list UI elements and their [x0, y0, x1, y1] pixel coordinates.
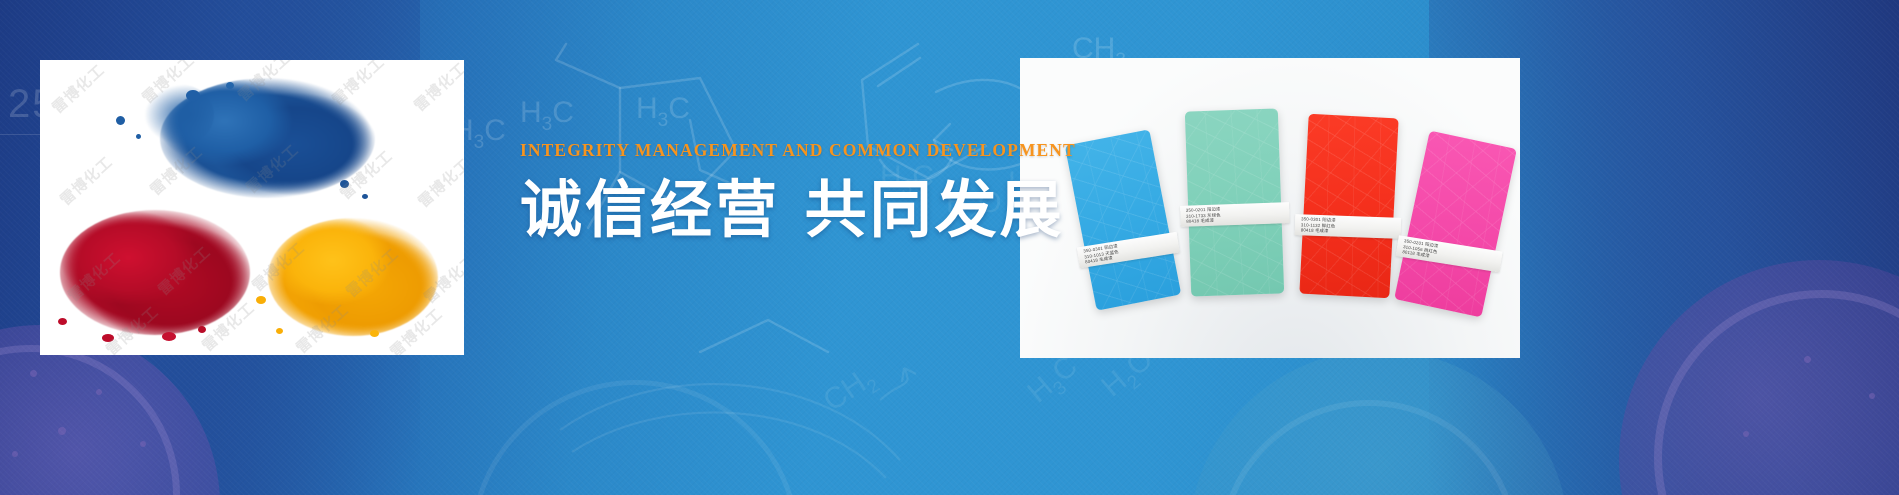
blue-sample-panel: 350-0301 阳边漆 310-1013 天蓝色 80418 毛成漆: [1065, 129, 1181, 310]
watermark-text: 雷博化工: [55, 151, 117, 209]
powder-speck: [362, 194, 368, 199]
panel-texture: [1299, 114, 1398, 298]
panel-label: 350-0201 阳边漆 310-1733 灰绿色 80418 毛成漆: [1180, 202, 1290, 227]
color-swatch-photo: 350-0301 阳边漆 310-1013 天蓝色 80418 毛成漆 350-…: [1020, 58, 1520, 358]
powder-speck: [340, 180, 349, 188]
watermark-text: 雷博化工: [47, 60, 109, 118]
watermark-text: 雷博化工: [413, 153, 464, 211]
powder-speck: [116, 116, 125, 125]
panel-texture: [1394, 131, 1517, 318]
banner-text-block: INTEGRITY MANAGEMENT AND COMMON DEVELOPM…: [520, 140, 1030, 241]
powder-speck: [58, 318, 67, 325]
photo-right-inner: 350-0301 阳边漆 310-1013 天蓝色 80418 毛成漆 350-…: [1020, 58, 1520, 358]
red-pigment-powder: [60, 210, 250, 335]
panel-texture: [1065, 129, 1181, 310]
powder-speck: [276, 328, 283, 334]
powder-speck: [226, 82, 234, 89]
powder-speck: [186, 90, 200, 101]
yellow-pigment-powder: [268, 218, 438, 336]
panel-label: 350-0301 阳边漆 310-1132 鲜红色 80418 毛成漆: [1294, 214, 1401, 239]
powder-speck: [370, 330, 379, 337]
powder-speck: [136, 134, 141, 139]
pink-sample-panel: 350-0201 阳边漆 310-1056 桃红色 80118 毛成漆: [1394, 131, 1517, 318]
watermark-text: 雷博化工: [409, 60, 464, 116]
powder-speck: [256, 296, 266, 304]
green-sample-panel: 350-0201 阳边漆 310-1733 灰绿色 80418 毛成漆: [1185, 108, 1284, 296]
red-sample-panel: 350-0301 阳边漆 310-1132 鲜红色 80418 毛成漆: [1299, 114, 1398, 298]
photo-left-inner: 雷博化工 雷博化工 雷博化工 雷博化工 雷博化工 雷博化工 雷博化工 雷博化工 …: [40, 60, 464, 355]
promo-banner: H3C H3C H3C CH3 H3C H2O H3C H2O CH3 CH2 …: [0, 0, 1899, 495]
tagline-english: INTEGRITY MANAGEMENT AND COMMON DEVELOPM…: [520, 140, 1030, 161]
pigment-powder-photo: 雷博化工 雷博化工 雷博化工 雷博化工 雷博化工 雷博化工 雷博化工 雷博化工 …: [40, 60, 464, 355]
powder-speck: [102, 334, 114, 342]
powder-speck: [198, 326, 206, 333]
powder-speck: [162, 332, 176, 341]
headline-chinese: 诚信经营 共同发展: [520, 179, 1030, 241]
